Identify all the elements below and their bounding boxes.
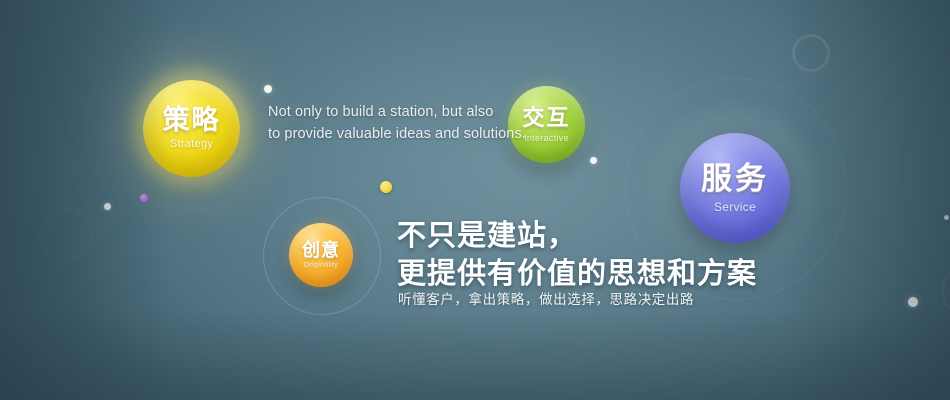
dot-yellow xyxy=(380,181,392,193)
sphere-originality-cn-label: 创意 xyxy=(302,241,340,259)
subheadline: 听懂客户，拿出策略，做出选择，思路决定出路 xyxy=(398,288,694,308)
ring-top-right-small xyxy=(792,34,830,72)
sphere-interactive-en-label: Interactive xyxy=(524,134,569,143)
sphere-strategy-cn-label: 策略 xyxy=(163,107,221,134)
sphere-service-en-label: Service xyxy=(714,201,756,213)
headline: 不只是建站， 更提供有价值的思想和方案 xyxy=(397,218,757,293)
sphere-service-cn-label: 服务 xyxy=(701,163,769,194)
sphere-strategy-en-label: Strategy xyxy=(170,139,213,150)
intro-text: Not only to build a station, but also to… xyxy=(268,101,526,146)
sphere-interactive-cn-label: 交互 xyxy=(522,107,570,129)
dot-white-right xyxy=(908,297,918,307)
sphere-originality-en-label: Originality xyxy=(304,262,338,269)
vignette-bottom xyxy=(0,310,950,400)
dot-white-mid xyxy=(590,157,597,164)
dot-white-small-right xyxy=(944,215,949,220)
dot-purple xyxy=(140,194,148,202)
ring-left-small xyxy=(40,208,92,260)
vignette-right xyxy=(780,0,950,400)
dot-white-upper xyxy=(264,85,272,93)
hero-banner: 策略 Strategy 交互 Interactive 创意 Originalit… xyxy=(0,0,950,400)
sphere-originality[interactable]: 创意 Originality xyxy=(289,223,353,287)
ring-far-right xyxy=(941,266,950,316)
sphere-strategy[interactable]: 策略 Strategy xyxy=(143,80,240,177)
dot-white-left xyxy=(104,203,111,210)
